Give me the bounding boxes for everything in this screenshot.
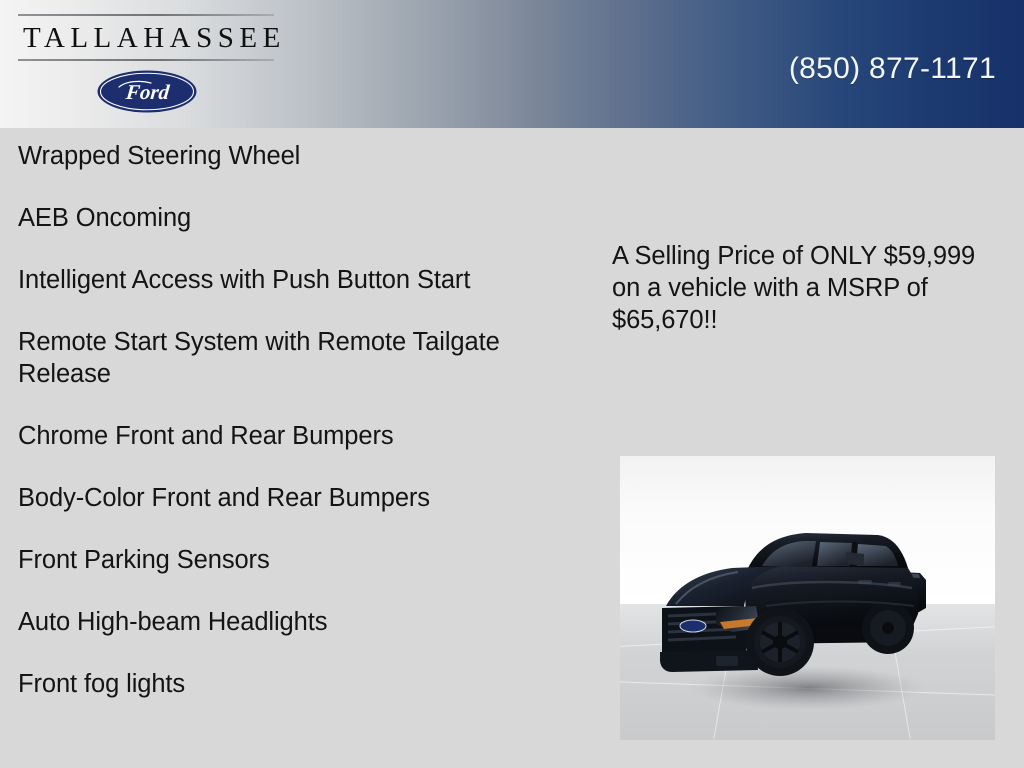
dealer-feature-slide: TALLAHASSEE Ford (850) 877-1171 Wrapped … [0, 0, 1024, 768]
list-item: Intelligent Access with Push Button Star… [18, 264, 578, 296]
dealer-logo: TALLAHASSEE [18, 14, 274, 61]
list-item: Front fog lights [18, 668, 578, 700]
dealer-city-name: TALLAHASSEE [18, 21, 274, 55]
vehicle-photo [620, 456, 995, 740]
list-item: Wrapped Steering Wheel [18, 140, 578, 172]
list-item: AEB Oncoming [18, 202, 578, 234]
list-item: Body-Color Front and Rear Bumpers [18, 482, 578, 514]
list-item: Chrome Front and Rear Bumpers [18, 420, 578, 452]
price-callout-text: A Selling Price of ONLY $59,999 on a veh… [612, 240, 1004, 336]
list-item: Front Parking Sensors [18, 544, 578, 576]
list-item: Auto High-beam Headlights [18, 606, 578, 638]
header-banner: TALLAHASSEE Ford (850) 877-1171 [0, 0, 1024, 128]
brand-rule-bottom [18, 59, 274, 61]
dealer-phone-number[interactable]: (850) 877-1171 [789, 50, 996, 88]
pickup-truck-illustration [620, 456, 995, 740]
feature-list: Wrapped Steering Wheel AEB Oncoming Inte… [18, 140, 578, 700]
brand-rule-top [18, 14, 274, 16]
ford-oval-icon: Ford [97, 70, 197, 113]
list-item: Remote Start System with Remote Tailgate… [18, 326, 578, 390]
svg-text:Ford: Ford [124, 80, 171, 104]
